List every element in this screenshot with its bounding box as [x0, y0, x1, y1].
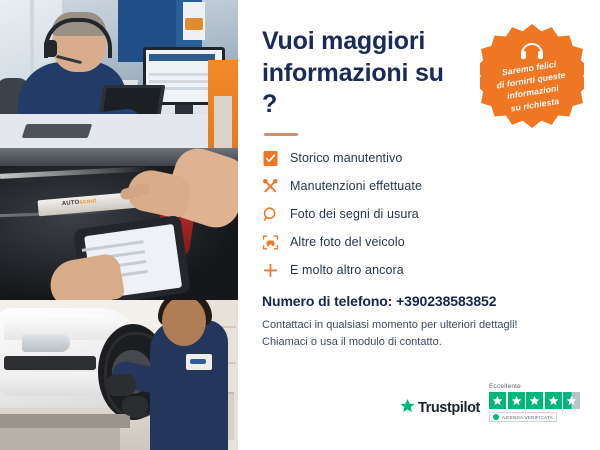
photo-car-body-inspection-with-tablet: AUTOscout	[0, 148, 238, 300]
headset-icon	[521, 43, 543, 59]
verified-badge-label: AZIENDA VERIFICATA	[502, 415, 553, 420]
trustpilot-rating[interactable]: Trustpilot Eccellente	[400, 383, 580, 422]
magnifier-icon	[262, 206, 279, 223]
page-title: Vuoi maggiori informazioni su ?	[262, 26, 462, 121]
trustpilot-star-icon	[400, 398, 415, 418]
feature-label: E molto altro ancora	[290, 263, 404, 277]
list-item-molto-altro-ancora: E molto altro ancora	[262, 262, 578, 279]
checkbox-checked-icon	[262, 150, 279, 167]
list-item-altre-foto-veicolo: Altre foto del veicolo	[262, 234, 578, 251]
trustpilot-rating-label: Eccellente	[489, 383, 521, 390]
verified-company-badge: AZIENDA VERIFICATA	[489, 412, 557, 422]
star-filled	[489, 392, 506, 409]
features-list: Storico manutentivo Manutenzioni effettu…	[262, 150, 578, 279]
trustpilot-score-block: Eccellente	[489, 383, 580, 422]
feature-label: Storico manutentivo	[290, 151, 402, 165]
title-underline-divider	[264, 133, 298, 136]
content-panel: Vuoi maggiori informazioni su ? Storico …	[238, 0, 600, 450]
contact-subtext: Contattaci in qualsiasi momento per ulte…	[262, 317, 578, 351]
promo-card: AUTOscout	[0, 0, 600, 450]
photo-mechanic-inspecting-white-car-on-lift	[0, 300, 238, 450]
plus-icon	[262, 262, 279, 279]
feature-label: Manutenzioni effettuate	[290, 179, 422, 193]
crossed-tools-icon	[262, 178, 279, 195]
star-filled	[545, 392, 562, 409]
phone-number-heading: Numero di telefono: +390238583852	[262, 293, 578, 309]
verified-check-icon	[493, 414, 499, 420]
page-title-line-1: Vuoi maggiori	[262, 27, 425, 55]
car-focus-frame-icon	[262, 234, 279, 251]
trustpilot-brand-name: Trustpilot	[418, 400, 480, 416]
feature-label: Foto dei segni di usura	[290, 207, 419, 221]
list-item-manutenzioni-effettuate: Manutenzioni effettuate	[262, 178, 578, 195]
contact-subtext-line-1: Contattaci in qualsiasi momento per ulte…	[262, 319, 518, 331]
feature-label: Altre foto del veicolo	[290, 235, 405, 249]
request-info-badge: Saremo felici di fornirti queste informa…	[480, 24, 584, 128]
page-title-line-2: informazioni su ?	[262, 59, 444, 119]
star-filled	[508, 392, 525, 409]
list-item-foto-segni-usura: Foto dei segni di usura	[262, 206, 578, 223]
trustpilot-logo[interactable]: Trustpilot	[400, 398, 480, 422]
contact-subtext-line-2: Chiamaci o usa il modulo di contatto.	[262, 336, 442, 348]
star-half	[563, 392, 580, 409]
star-filled	[526, 392, 543, 409]
trustpilot-stars	[489, 392, 580, 409]
photo-column: AUTOscout	[0, 0, 238, 450]
list-item-storico-manutentivo: Storico manutentivo	[262, 150, 578, 167]
photo-call-center-agents-with-headsets	[0, 0, 238, 148]
